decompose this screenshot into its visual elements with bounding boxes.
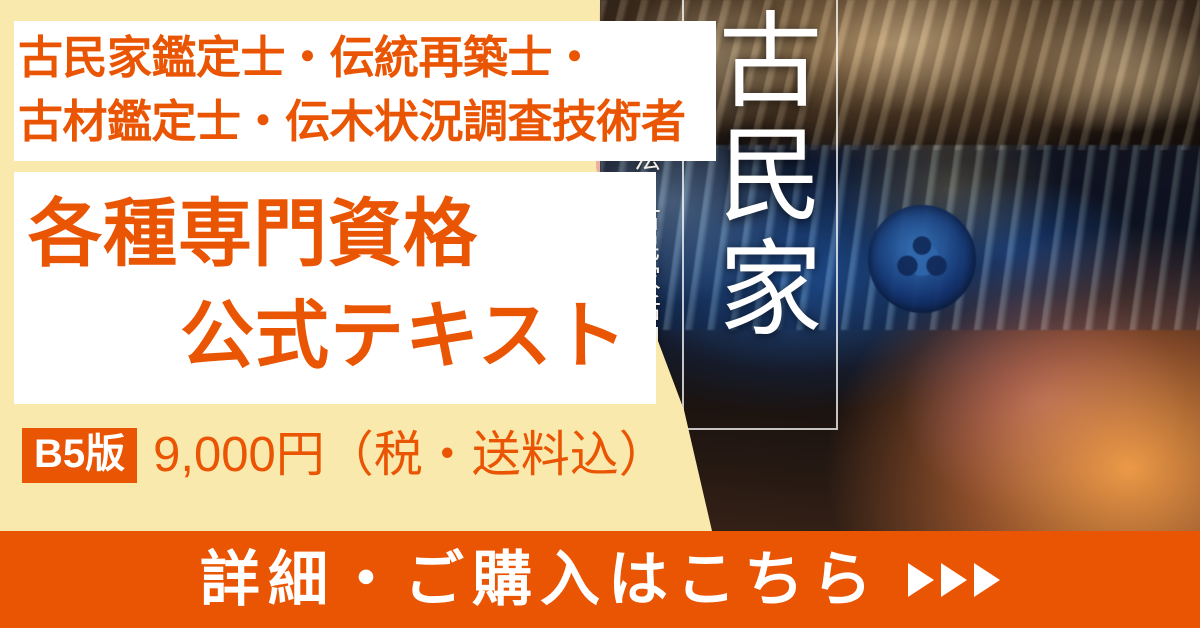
main-title-line-1: 各種専門資格: [22, 183, 702, 285]
main-title-line-2: 公式テキスト: [22, 285, 702, 387]
play-triangle-icon: [941, 563, 967, 597]
headline-line-2: 古材鑑定士・伝木状況調査技術者: [18, 90, 718, 154]
cta-arrow-group: [908, 563, 1000, 597]
book-cover-title: 古民家: [702, 6, 820, 348]
promo-banner: 伝統構法 古民家活用のための調査と再生の 古民家 古民家鑑定士・伝統再築士・ 古…: [0, 0, 1200, 628]
main-title: 各種専門資格 公式テキスト: [22, 183, 702, 387]
family-crest-icon: [868, 205, 976, 313]
headline: 古民家鑑定士・伝統再築士・ 古材鑑定士・伝木状況調査技術者: [18, 26, 718, 154]
price-amount: 9,000円（税・送料込）: [153, 431, 668, 480]
cta-label: 詳細・ご購入はこちら: [200, 550, 880, 610]
format-badge: B5版: [22, 428, 137, 483]
price-row: B5版 9,000円（税・送料込）: [22, 428, 668, 483]
cta-bar[interactable]: 詳細・ご購入はこちら: [0, 531, 1200, 628]
play-triangle-icon: [974, 563, 1000, 597]
headline-line-1: 古民家鑑定士・伝統再築士・: [18, 26, 718, 90]
play-triangle-icon: [908, 563, 934, 597]
